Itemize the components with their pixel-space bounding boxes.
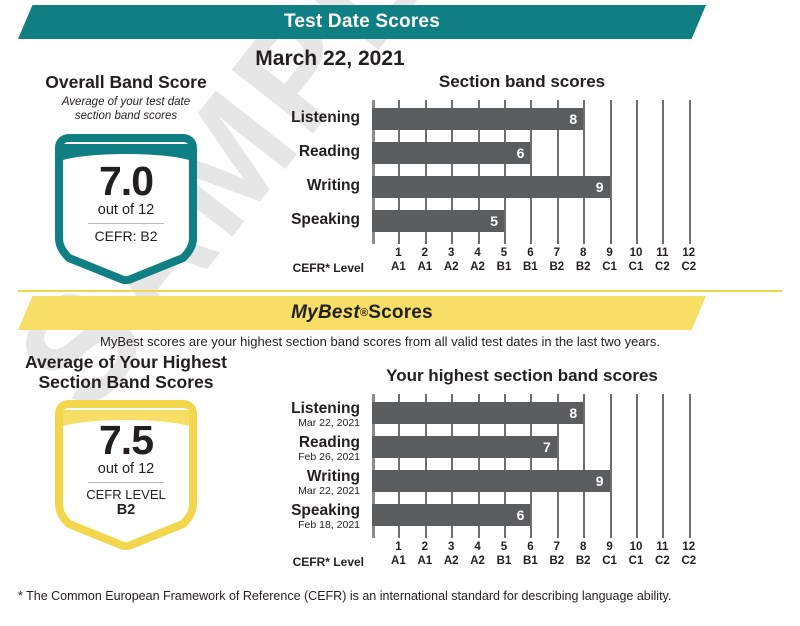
- chart-gridline: [636, 394, 638, 538]
- mybest-average-heading: Average of Your Highest Section Band Sco…: [14, 352, 238, 392]
- chart-row-label-name: Speaking: [252, 503, 360, 519]
- overall-score-cefr: CEFR: B2: [94, 228, 157, 244]
- chart-tick-label: 10C1: [623, 540, 649, 569]
- chart-tick-number: 4: [465, 540, 491, 554]
- chart-tick-label: 3A2: [438, 246, 464, 275]
- chart-row-label: ReadingFeb 26, 2021: [252, 435, 360, 463]
- overall-band-score-badge: Overall Band Score Average of your test …: [14, 72, 238, 284]
- chart-gridline: [662, 394, 664, 538]
- chart-tick-label: 10C1: [623, 246, 649, 275]
- chart-tick-number: 5: [491, 246, 517, 260]
- chart-bar-value: 8: [569, 405, 577, 421]
- chart-tick-number: 7: [544, 246, 570, 260]
- mybest-average-heading-line1: Average of Your Highest: [25, 352, 227, 372]
- mybest-scores-banner: MyBest® Scores: [18, 296, 706, 330]
- chart-bar-value: 6: [517, 145, 525, 161]
- highest-section-band-scores-plot-area: 8ListeningMar 22, 20217ReadingFeb 26, 20…: [252, 394, 792, 584]
- overall-band-score-subheading-line2: section band scores: [75, 110, 177, 122]
- chart-tick-label: 5B1: [491, 540, 517, 569]
- mybest-average-badge: Average of Your Highest Section Band Sco…: [14, 352, 238, 550]
- chart-gridline: [636, 100, 638, 244]
- chart-bar: 6: [372, 142, 530, 164]
- chart-row-label-date: Feb 18, 2021: [252, 520, 360, 531]
- chart-tick-label: 2A1: [412, 246, 438, 275]
- chart-tick-cefr: A2: [438, 554, 464, 568]
- chart-tick-number: 2: [412, 246, 438, 260]
- chart-row-label-name: Listening: [252, 110, 360, 126]
- chart-tick-label: 4A2: [465, 246, 491, 275]
- mybest-cefr-value: B2: [117, 502, 136, 518]
- chart-tick-cefr: C1: [597, 554, 623, 568]
- chart-tick-number: 1: [385, 540, 411, 554]
- chart-tick-cefr: B2: [570, 260, 596, 274]
- chart-tick-cefr: B1: [491, 554, 517, 568]
- chart-tick-label: 6B1: [517, 246, 543, 275]
- chart-tick-cefr: C1: [597, 260, 623, 274]
- chart-row-label-date: Mar 22, 2021: [252, 418, 360, 429]
- chart-tick-label: 1A1: [385, 540, 411, 569]
- test-date: March 22, 2021: [0, 47, 660, 71]
- mybest-scores-word: Scores: [368, 302, 433, 324]
- chart-tick-label: 4A2: [465, 540, 491, 569]
- cefr-footnote: * The Common European Framework of Refer…: [18, 588, 718, 605]
- chart-tick-label: 12C2: [676, 540, 702, 569]
- chart-tick-label: 7B2: [544, 540, 570, 569]
- section-band-scores-chart: Section band scores 8Listening6Reading9W…: [252, 72, 792, 290]
- chart-bar-value: 9: [596, 473, 604, 489]
- chart-bar-value: 6: [517, 507, 525, 523]
- chart-bar: 8: [372, 402, 583, 424]
- chart-tick-cefr: A2: [465, 554, 491, 568]
- chart-tick-cefr: B2: [570, 554, 596, 568]
- chart-row-label-name: Writing: [252, 469, 360, 485]
- chart-tick-number: 12: [676, 246, 702, 260]
- overall-band-score-subheading-line1: Average of your test date: [62, 96, 190, 108]
- overall-score-out-of: out of 12: [98, 202, 154, 218]
- chart-tick-number: 10: [623, 246, 649, 260]
- chart-tick-cefr: A2: [465, 260, 491, 274]
- overall-score-value: 7.0: [99, 162, 153, 201]
- chart-tick-number: 3: [438, 246, 464, 260]
- chart-gridline: [583, 394, 585, 538]
- chart-row-label-date: Mar 22, 2021: [252, 486, 360, 497]
- chart-tick-number: 4: [465, 246, 491, 260]
- overall-band-score-subheading: Average of your test date section band s…: [14, 96, 238, 124]
- chart-tick-number: 6: [517, 246, 543, 260]
- chart-tick-number: 3: [438, 540, 464, 554]
- chart-gridline: [610, 394, 612, 538]
- chart-tick-cefr: B2: [544, 554, 570, 568]
- chart-tick-number: 8: [570, 246, 596, 260]
- chart-tick-label: 11C2: [649, 246, 675, 275]
- chart-gridline: [689, 100, 691, 244]
- chart-tick-cefr: B2: [544, 260, 570, 274]
- chart-tick-label: 6B1: [517, 540, 543, 569]
- chart-tick-cefr: C1: [623, 260, 649, 274]
- chart-bar-value: 9: [596, 179, 604, 195]
- mybest-score-shield-content: 7.5 out of 12 CEFR LEVEL B2: [51, 400, 201, 550]
- chart-tick-label: 11C2: [649, 540, 675, 569]
- registered-trademark-icon: ®: [360, 307, 368, 319]
- mybest-description: MyBest scores are your highest section b…: [0, 334, 760, 349]
- chart-gridline: [610, 100, 612, 244]
- chart-tick-label: 1A1: [385, 246, 411, 275]
- test-date-scores-banner-title: Test Date Scores: [18, 5, 706, 39]
- chart-gridline: [662, 100, 664, 244]
- mybest-average-heading-line2: Section Band Scores: [38, 372, 213, 392]
- chart-row-label: Speaking: [252, 212, 360, 228]
- chart-row-label-name: Reading: [252, 435, 360, 451]
- chart-row-label-name: Reading: [252, 144, 360, 160]
- cefr-level-axis-label: CEFR* Level: [252, 261, 364, 275]
- chart-tick-cefr: A1: [412, 260, 438, 274]
- cefr-level-axis-label: CEFR* Level: [252, 555, 364, 569]
- section-divider: [18, 290, 782, 292]
- chart-bar-value: 5: [490, 213, 498, 229]
- chart-tick-label: 12C2: [676, 246, 702, 275]
- chart-tick-label: 5B1: [491, 246, 517, 275]
- chart-tick-cefr: A1: [385, 554, 411, 568]
- chart-bar: 9: [372, 470, 610, 492]
- chart-tick-cefr: B1: [491, 260, 517, 274]
- chart-row-label: ListeningMar 22, 2021: [252, 401, 360, 429]
- chart-tick-label: 2A1: [412, 540, 438, 569]
- overall-band-score-heading: Overall Band Score: [14, 72, 238, 92]
- chart-tick-number: 1: [385, 246, 411, 260]
- mybest-score-shield: 7.5 out of 12 CEFR LEVEL B2: [51, 400, 201, 550]
- chart-tick-cefr: A1: [412, 554, 438, 568]
- chart-tick-number: 7: [544, 540, 570, 554]
- chart-bar-value: 8: [569, 111, 577, 127]
- section-band-scores-chart-title: Section band scores: [252, 72, 792, 92]
- chart-tick-cefr: C2: [649, 554, 675, 568]
- chart-tick-cefr: B1: [517, 260, 543, 274]
- chart-tick-number: 9: [597, 540, 623, 554]
- chart-tick-number: 5: [491, 540, 517, 554]
- chart-tick-cefr: C2: [649, 260, 675, 274]
- chart-tick-cefr: A1: [385, 260, 411, 274]
- mybest-score-out-of: out of 12: [98, 461, 154, 477]
- chart-tick-label: 9C1: [597, 540, 623, 569]
- section-band-scores-plot-area: 8Listening6Reading9Writing5Speaking1A12A…: [252, 100, 792, 290]
- chart-tick-cefr: A2: [438, 260, 464, 274]
- chart-tick-label: 8B2: [570, 540, 596, 569]
- chart-tick-number: 6: [517, 540, 543, 554]
- overall-score-shield-content: 7.0 out of 12 CEFR: B2: [51, 134, 201, 284]
- chart-row-label: Reading: [252, 144, 360, 160]
- chart-row-label: SpeakingFeb 18, 2021: [252, 503, 360, 531]
- chart-bar: 7: [372, 436, 557, 458]
- chart-tick-number: 9: [597, 246, 623, 260]
- chart-tick-cefr: C2: [676, 554, 702, 568]
- chart-tick-number: 8: [570, 540, 596, 554]
- chart-tick-label: 3A2: [438, 540, 464, 569]
- mybest-wordmark: MyBest: [291, 302, 360, 324]
- chart-gridline: [689, 394, 691, 538]
- chart-bar: 9: [372, 176, 610, 198]
- mybest-score-value: 7.5: [99, 421, 153, 460]
- chart-tick-number: 10: [623, 540, 649, 554]
- highest-section-band-scores-chart-title: Your highest section band scores: [252, 366, 792, 386]
- chart-tick-label: 8B2: [570, 246, 596, 275]
- chart-bar: 5: [372, 210, 504, 232]
- chart-tick-cefr: C1: [623, 554, 649, 568]
- chart-bar: 8: [372, 108, 583, 130]
- overall-score-shield: 7.0 out of 12 CEFR: B2: [51, 134, 201, 284]
- chart-row-label: Listening: [252, 110, 360, 126]
- chart-row-label-date: Feb 26, 2021: [252, 452, 360, 463]
- chart-tick-cefr: C2: [676, 260, 702, 274]
- chart-tick-number: 11: [649, 246, 675, 260]
- score-divider: [88, 482, 164, 483]
- chart-row-label-name: Writing: [252, 178, 360, 194]
- chart-bar: 6: [372, 504, 530, 526]
- chart-tick-label: 9C1: [597, 246, 623, 275]
- chart-tick-label: 7B2: [544, 246, 570, 275]
- mybest-cefr-label: CEFR LEVEL: [86, 487, 165, 502]
- chart-tick-number: 11: [649, 540, 675, 554]
- chart-row-label-name: Speaking: [252, 212, 360, 228]
- chart-tick-number: 12: [676, 540, 702, 554]
- chart-gridline: [583, 100, 585, 244]
- chart-tick-cefr: B1: [517, 554, 543, 568]
- score-divider: [88, 223, 164, 224]
- chart-row-label-name: Listening: [252, 401, 360, 417]
- highest-section-band-scores-chart: Your highest section band scores 8Listen…: [252, 366, 792, 584]
- chart-tick-number: 2: [412, 540, 438, 554]
- chart-row-label: WritingMar 22, 2021: [252, 469, 360, 497]
- test-date-scores-banner: Test Date Scores: [18, 5, 706, 39]
- chart-row-label: Writing: [252, 178, 360, 194]
- mybest-scores-banner-title: MyBest® Scores: [18, 296, 706, 330]
- chart-bar-value: 7: [543, 439, 551, 455]
